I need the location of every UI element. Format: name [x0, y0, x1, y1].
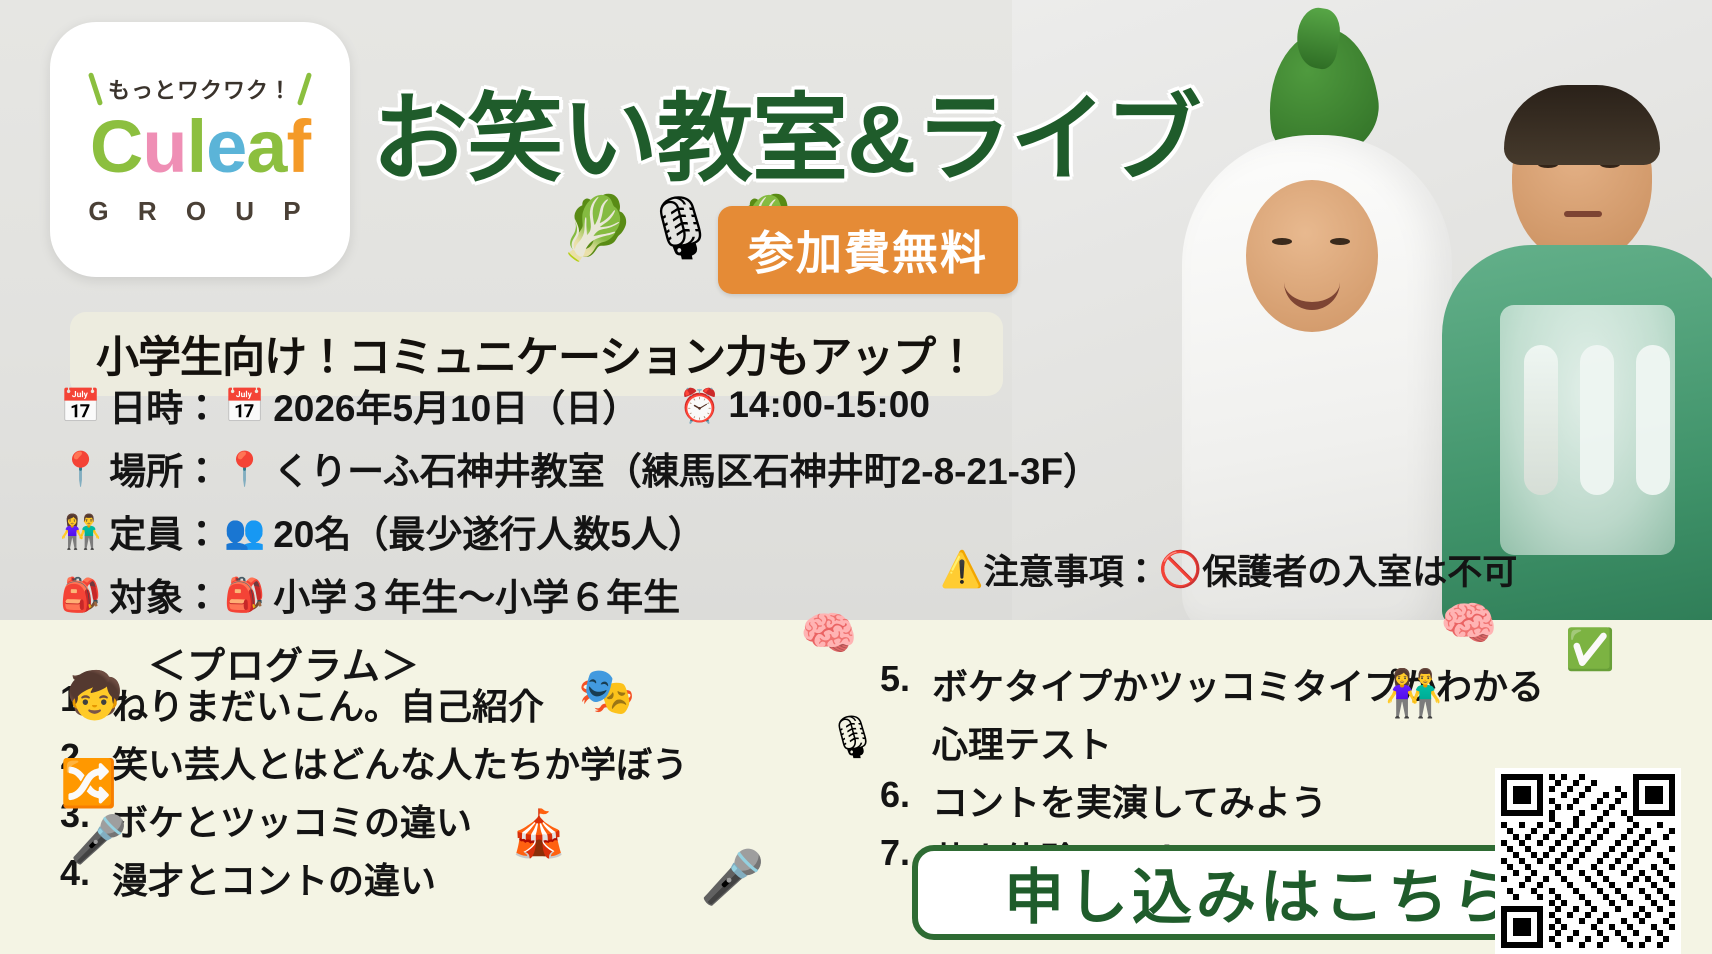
program-text: コントを実演してみよう: [932, 774, 1327, 826]
eye-icon: [1330, 238, 1350, 245]
notice-row: ⚠️ 注意事項： 🚫 保護者の入室は不可: [940, 544, 1517, 595]
brain-icon: 🧠: [1440, 600, 1497, 646]
backpack-value-icon: 🎒: [224, 578, 265, 611]
logo-letter-a: a: [246, 110, 286, 184]
notice-label: 注意事項：: [984, 544, 1159, 595]
program-number: 5.: [880, 658, 932, 700]
program-text: ボケとツッコミの違い: [112, 794, 472, 846]
logo-tagline: もっとワクワク！: [108, 73, 292, 105]
info-value-date: 2026年5月10日（日）: [273, 378, 639, 432]
logo-wordmark: Culeaf: [90, 110, 310, 184]
busts-icon: 👥: [224, 515, 265, 548]
studio-microphone-icon: 🎙: [826, 716, 879, 758]
prohibited-icon: 🚫: [1159, 549, 1203, 590]
boy-icon: 🧒: [66, 672, 123, 718]
microphone-icon: 🎙: [641, 198, 720, 260]
program-text-second-line: 心理テスト: [932, 716, 1112, 768]
shuffle-arrows-icon: 🔀: [60, 760, 117, 806]
qr-code-image: [1501, 774, 1675, 948]
logo-letter-e: e: [206, 110, 246, 184]
notice-value: 保護者の入室は不可: [1202, 544, 1517, 595]
info-value-target: 小学３年生〜小学６年生: [273, 567, 680, 621]
theater-masks-icon: 🎭: [578, 668, 635, 714]
free-admission-badge: 参加費無料: [718, 206, 1018, 294]
program-item: 1. ねりまだいこん。自己紹介: [60, 678, 820, 730]
people-icon: 👫: [60, 515, 101, 548]
qr-code[interactable]: [1495, 768, 1681, 954]
slash-left-icon: [88, 72, 103, 106]
event-poster: もっとワクワク！ Culeaf G R O U P お笑い教室&ライブ 🥬 🎙 …: [0, 0, 1712, 954]
radish-left-icon: 🥬: [558, 198, 635, 260]
check-mark-icon: ✅: [1565, 630, 1615, 670]
eye-icon: [1272, 238, 1292, 245]
info-row-datetime: 📅 日時： 📅 2026年5月10日（日） ⏰ 14:00-15:00: [60, 378, 1660, 432]
program-item: 3. ボケとツッコミの違い: [60, 794, 820, 846]
info-label-location: 場所：: [109, 441, 220, 495]
mouth-icon: [1564, 211, 1602, 217]
info-label-capacity: 定員：: [109, 504, 220, 558]
program-text: ねりまだいこん。自己紹介: [112, 678, 544, 730]
backpack-icon: 🎒: [60, 578, 101, 611]
calendar-value-icon: 📅: [224, 389, 265, 422]
circus-tent-icon: 🎪: [510, 810, 567, 856]
hair-shape: [1504, 85, 1660, 165]
info-row-location: 📍 場所： 📍 くりーふ石神井教室（練馬区石神井町2-8-21-3F）: [60, 441, 1660, 495]
program-number: 6.: [880, 774, 932, 816]
calendar-icon: 📅: [60, 389, 101, 422]
header-band: もっとワクワク！ Culeaf G R O U P お笑い教室&ライブ 🥬 🎙 …: [0, 0, 1712, 620]
program-item: 2. 笑い芸人とはどんな人たちか学ぼう: [60, 736, 820, 788]
smile-icon: [1284, 276, 1340, 310]
program-item-continuation: 心理テスト: [880, 716, 1640, 768]
info-label-datetime: 日時：: [109, 378, 220, 432]
program-item: 5. ボケタイプかツッコミタイプかわかる: [880, 658, 1640, 710]
culeaf-logo-card: もっとワクワク！ Culeaf G R O U P: [50, 22, 350, 277]
logo-letter-f: f: [286, 110, 310, 184]
event-info-list: 📅 日時： 📅 2026年5月10日（日） ⏰ 14:00-15:00 📍 場所…: [60, 378, 1660, 630]
slash-right-icon: [297, 72, 312, 106]
alarm-clock-icon: ⏰: [679, 389, 720, 422]
logo-letter-l: l: [187, 110, 207, 184]
info-label-target: 対象：: [109, 567, 220, 621]
microphone-icon: 🎤: [70, 816, 127, 862]
program-text: 笑い芸人とはどんな人たちか学ぼう: [112, 736, 688, 788]
info-value-capacity: 20名（最少遂行人数5人）: [273, 504, 705, 558]
logo-tagline-row: もっとワクワク！: [93, 72, 307, 106]
info-value-location: くりーふ石神井教室（練馬区石神井町2-8-21-3F）: [273, 441, 1100, 495]
performer-face-left: [1246, 180, 1378, 332]
studio-microphone-icon: 🎤: [700, 852, 765, 904]
warning-icon: ⚠️: [940, 549, 984, 590]
info-value-time: 14:00-15:00: [728, 384, 930, 426]
logo-letter-u: u: [142, 110, 186, 184]
program-text: 漫才とコントの違い: [112, 852, 436, 904]
program-text: ボケタイプかツッコミタイプかわかる: [932, 658, 1544, 710]
kids-icon: 👫: [1385, 670, 1442, 716]
page-title: お笑い教室&ライブ: [372, 92, 1200, 188]
logo-group-word: G R O U P: [88, 196, 311, 227]
brain-icon: 🧠: [800, 610, 857, 656]
logo-letter-c: C: [90, 110, 142, 184]
pushpin-icon: 📍: [224, 452, 265, 485]
location-pin-icon: 📍: [60, 452, 101, 485]
